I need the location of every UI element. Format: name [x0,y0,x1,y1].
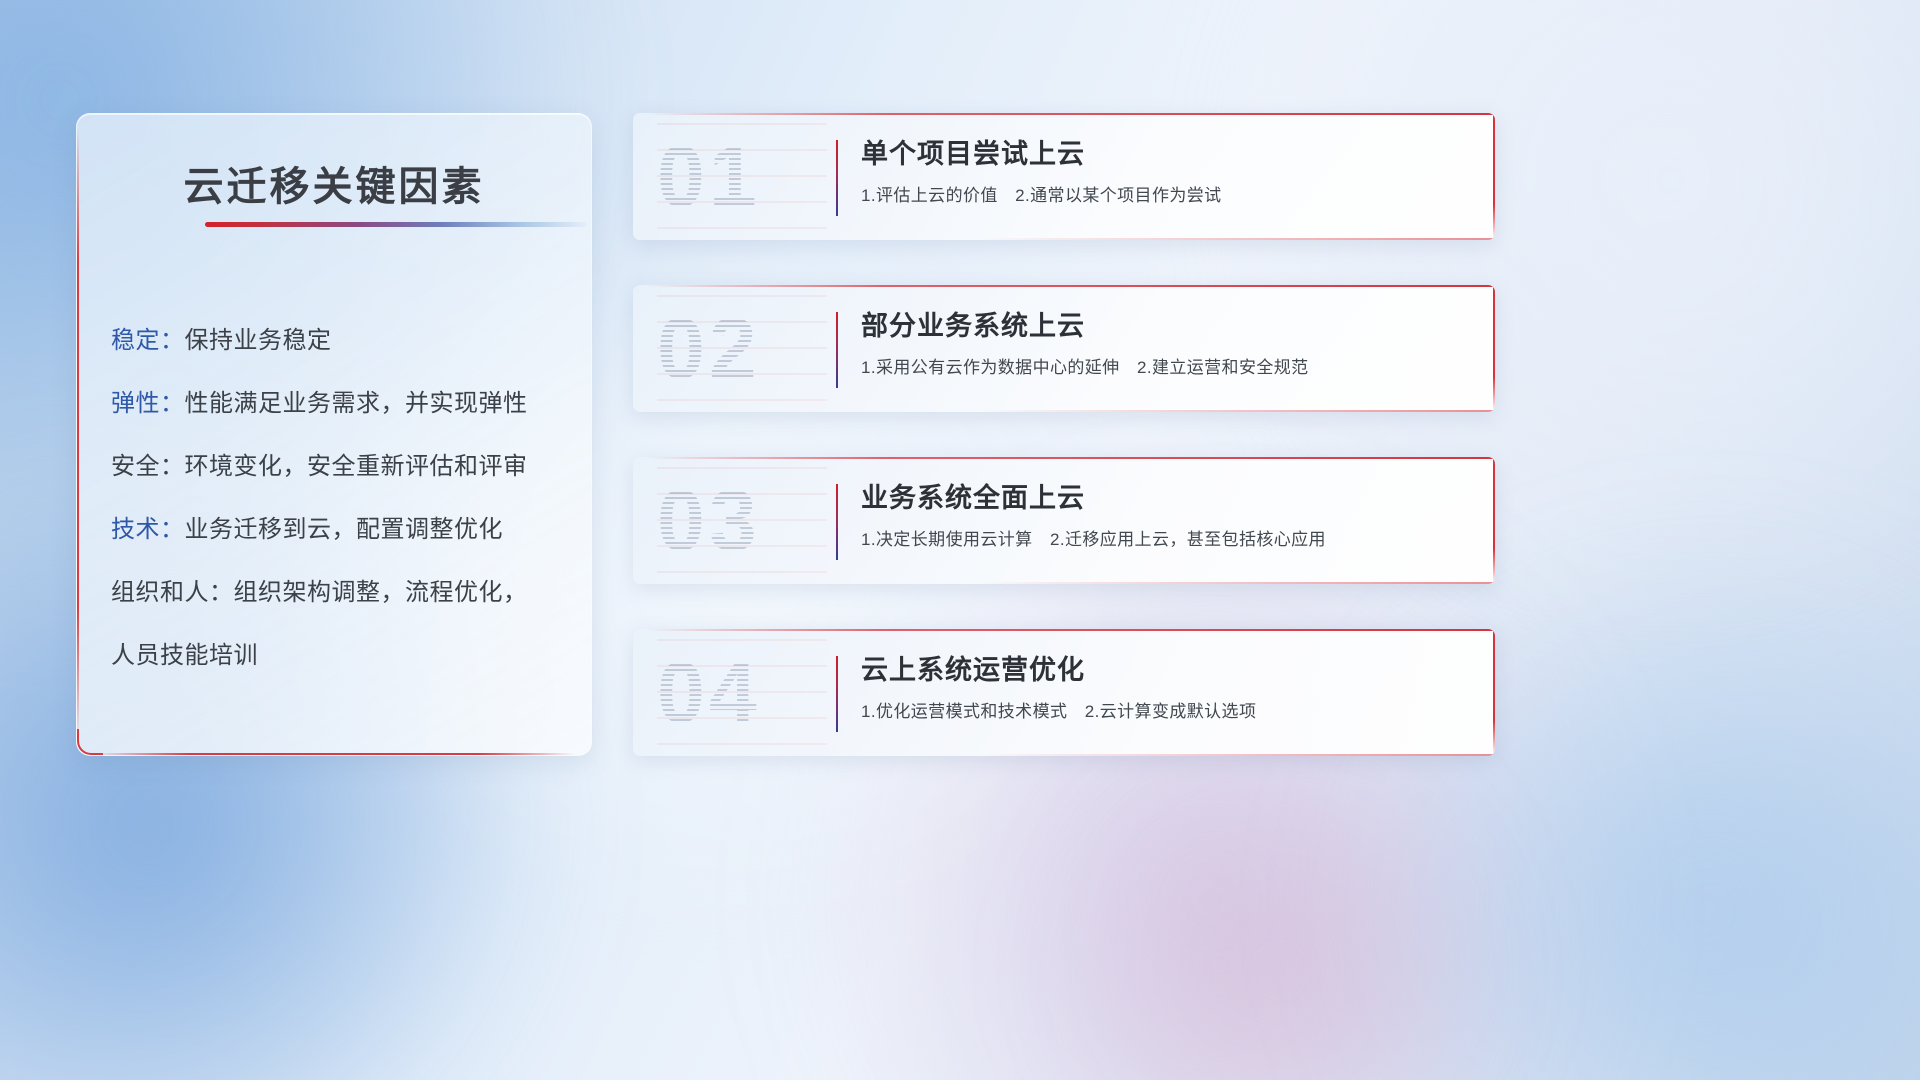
card-title: 业务系统全面上云 [861,479,1467,517]
key-factor-text: 性能满足业务需求，并实现弹性 [185,390,528,417]
stage-number-decoration: 04 [657,639,827,747]
card-body: 业务系统全面上云1.决定长期使用云计算 2.迁移应用上云，甚至包括核心应用 [861,479,1467,552]
key-factor-text: 保持业务稳定 [185,327,332,354]
title-underline-gradient [205,222,587,227]
card-right-accent [1493,457,1495,584]
key-factor-row: 稳定：保持业务稳定 [111,309,571,372]
key-factor-text: 人员技能培训 [111,642,258,669]
card-title: 云上系统运营优化 [861,651,1467,689]
card-body: 云上系统运营优化1.优化运营模式和技术模式 2.云计算变成默认选项 [861,651,1467,724]
panel-left-accent-border [77,128,79,741]
stage-card[interactable]: 04云上系统运营优化1.优化运营模式和技术模式 2.云计算变成默认选项 [633,629,1495,756]
card-divider-bar [836,484,838,560]
card-bottom-accent [978,238,1495,240]
key-factor-text: 业务迁移到云，配置调整优化 [185,516,504,543]
key-factor-text: 环境变化，安全重新评估和评审 [185,453,528,480]
card-subtitle: 1.优化运营模式和技术模式 2.云计算变成默认选项 [861,700,1467,724]
card-top-accent [647,457,1495,459]
key-factor-row: 组织和人：组织架构调整，流程优化， [111,561,571,624]
stage-number-decoration: 03 [657,467,827,575]
key-factor-row: 安全：环境变化，安全重新评估和评审 [111,435,571,498]
card-bottom-accent [978,582,1495,584]
stage-number-text: 02 [657,295,761,403]
card-bottom-accent [978,410,1495,412]
card-body: 单个项目尝试上云1.评估上云的价值 2.通常以某个项目作为尝试 [861,135,1467,208]
card-right-accent [1493,113,1495,240]
key-factor-label: 弹性： [111,390,185,417]
card-top-accent [647,285,1495,287]
card-bottom-accent [978,754,1495,756]
card-title: 部分业务系统上云 [861,307,1467,345]
panel-bottom-accent-border [93,753,575,755]
card-top-accent [647,113,1495,115]
key-factors-list: 稳定：保持业务稳定弹性：性能满足业务需求，并实现弹性安全：环境变化，安全重新评估… [111,309,571,687]
stage-number-decoration: 01 [657,123,827,231]
stage-card[interactable]: 02部分业务系统上云1.采用公有云作为数据中心的延伸 2.建立运营和安全规范 [633,285,1495,412]
card-body: 部分业务系统上云1.采用公有云作为数据中心的延伸 2.建立运营和安全规范 [861,307,1467,380]
stage-card[interactable]: 03业务系统全面上云1.决定长期使用云计算 2.迁移应用上云，甚至包括核心应用 [633,457,1495,584]
card-subtitle: 1.评估上云的价值 2.通常以某个项目作为尝试 [861,184,1467,208]
card-top-accent [647,629,1495,631]
stages-card-list: 01单个项目尝试上云1.评估上云的价值 2.通常以某个项目作为尝试02部分业务系… [633,113,1495,801]
card-title: 单个项目尝试上云 [861,135,1467,173]
key-factor-label: 技术： [111,516,185,543]
card-right-accent [1493,629,1495,756]
key-factor-text: 组织架构调整，流程优化， [234,579,528,606]
key-factor-label: 安全： [111,453,185,480]
card-divider-bar [836,140,838,216]
key-factors-panel: 云迁移关键因素 稳定：保持业务稳定弹性：性能满足业务需求，并实现弹性安全：环境变… [76,113,592,756]
key-factor-row: 技术：业务迁移到云，配置调整优化 [111,498,571,561]
card-subtitle: 1.采用公有云作为数据中心的延伸 2.建立运营和安全规范 [861,356,1467,380]
stage-number-text: 03 [657,467,761,575]
card-divider-bar [836,656,838,732]
stage-card[interactable]: 01单个项目尝试上云1.评估上云的价值 2.通常以某个项目作为尝试 [633,113,1495,240]
stage-number-text: 04 [657,639,761,747]
page-title: 云迁移关键因素 [77,154,591,212]
stage-number-text: 01 [657,123,761,231]
card-subtitle: 1.决定长期使用云计算 2.迁移应用上云，甚至包括核心应用 [861,528,1467,552]
key-factor-label: 稳定： [111,327,185,354]
key-factor-label: 组织和人： [111,579,234,606]
panel-bottom-left-corner [77,729,103,755]
key-factor-row: 弹性：性能满足业务需求，并实现弹性 [111,372,571,435]
stage-number-decoration: 02 [657,295,827,403]
key-factor-row: 人员技能培训 [111,624,571,687]
card-divider-bar [836,312,838,388]
card-right-accent [1493,285,1495,412]
